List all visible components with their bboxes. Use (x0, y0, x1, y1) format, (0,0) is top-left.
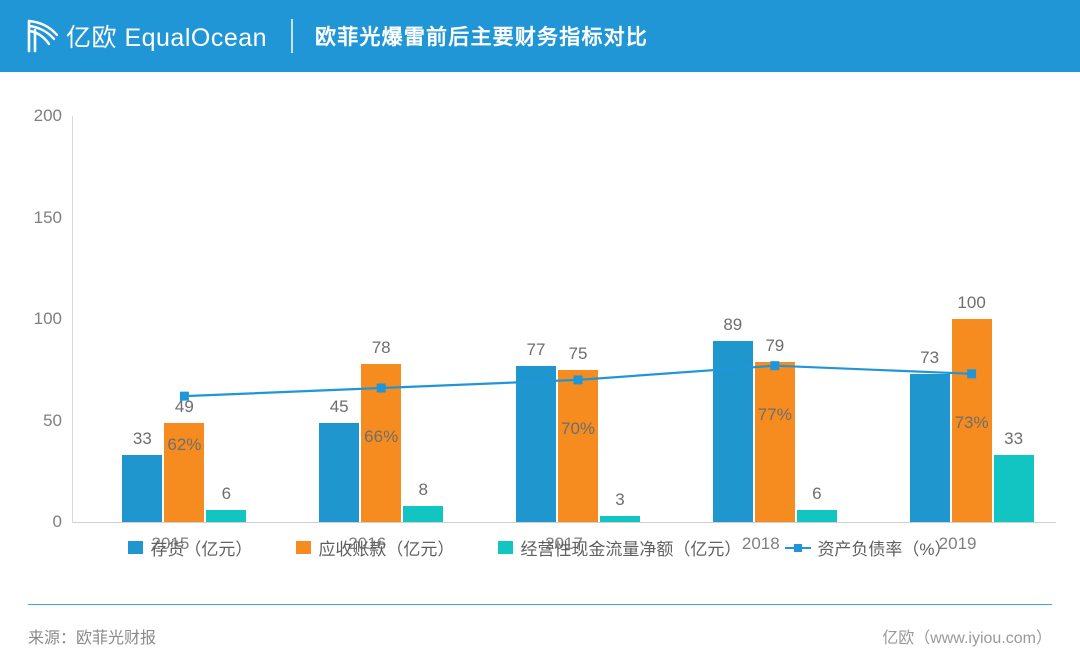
chart-legend: 存货（亿元）应收账款（亿元）经营性现金流量净额（亿元）资产负债率（%） (0, 530, 1080, 564)
legend-label: 经营性现金流量净额（亿元） (520, 535, 741, 560)
bar (797, 510, 837, 522)
site-text: 亿欧（www.iyiou.com） (882, 624, 1052, 648)
brand-logo: 亿欧 EqualOcean (26, 17, 267, 55)
bar-value-label: 78 (345, 338, 417, 358)
y-axis-tick-label: 50 (6, 412, 62, 429)
bar-value-label: 49 (148, 397, 220, 417)
line-value-label: 73% (927, 413, 1017, 433)
legend-label: 存货（亿元） (150, 535, 252, 560)
bar-value-label: 75 (542, 344, 614, 364)
legend-label: 应收账款（亿元） (318, 535, 454, 560)
chart-container: 050100150200 334964578877753897967310033… (0, 72, 1080, 597)
legend-line-marker-icon (785, 541, 811, 554)
page-title: 欧菲光爆雷前后主要财务指标对比 (315, 21, 648, 51)
brand-logo-text: 亿欧 EqualOcean (66, 18, 267, 54)
bar (122, 455, 162, 522)
y-axis-tick-label: 100 (6, 310, 62, 327)
source-text: 来源：欧菲光财报 (28, 624, 156, 648)
bar (516, 366, 556, 522)
y-axis-tick-label: 0 (6, 513, 62, 530)
legend-swatch-icon (128, 541, 143, 554)
bar (206, 510, 246, 522)
x-axis-line (72, 522, 1056, 523)
bar-value-label: 79 (739, 336, 811, 356)
bar-value-label: 6 (781, 484, 853, 504)
page-footer: 来源：欧菲光财报 亿欧（www.iyiou.com） (0, 612, 1080, 662)
legend-item[interactable]: 经营性现金流量净额（亿元） (498, 535, 741, 560)
legend-swatch-icon (498, 541, 513, 554)
legend-label: 资产负债率（%） (817, 535, 951, 560)
bar-value-label: 3 (584, 490, 656, 510)
line-value-label: 77% (730, 405, 820, 425)
line-value-label: 70% (533, 419, 623, 439)
legend-item[interactable]: 存货（亿元） (128, 535, 252, 560)
y-axis-tick-label: 200 (6, 107, 62, 124)
bar-value-label: 89 (697, 315, 769, 335)
y-axis-tick-label: 150 (6, 209, 62, 226)
legend-swatch-icon (296, 541, 311, 554)
line-value-label: 66% (336, 427, 426, 447)
equalocean-y-mark-icon (26, 17, 60, 55)
bar (600, 516, 640, 522)
bar (713, 341, 753, 522)
bar-value-label: 100 (936, 293, 1008, 313)
header-divider (291, 19, 293, 53)
bar (910, 374, 950, 522)
footer-divider (28, 604, 1052, 605)
bar (994, 455, 1034, 522)
page-header: 亿欧 EqualOcean 欧菲光爆雷前后主要财务指标对比 (0, 0, 1080, 72)
bars-layer: 334964578877753897967310033 (72, 116, 1056, 522)
legend-item[interactable]: 资产负债率（%） (785, 535, 951, 560)
legend-item[interactable]: 应收账款（亿元） (296, 535, 454, 560)
bar (403, 506, 443, 522)
line-value-label: 62% (139, 435, 229, 455)
bar-value-label: 8 (387, 480, 459, 500)
bar-value-label: 6 (190, 484, 262, 504)
